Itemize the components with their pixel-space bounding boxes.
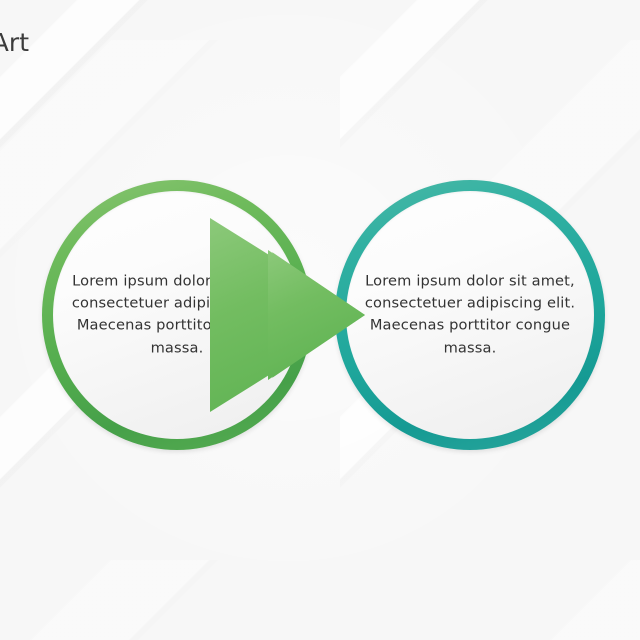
right-arrow-icon	[210, 218, 370, 414]
slide-canvas: artArt Lorem ipsum dolor sit amet, conse…	[0, 0, 640, 640]
node-2-text: Lorem ipsum dolor sit amet, consectetuer…	[359, 271, 581, 360]
process-node-2[interactable]: Lorem ipsum dolor sit amet, consectetuer…	[335, 180, 605, 450]
smartart-diagram: Lorem ipsum dolor sit amet, consectetuer…	[0, 0, 640, 640]
